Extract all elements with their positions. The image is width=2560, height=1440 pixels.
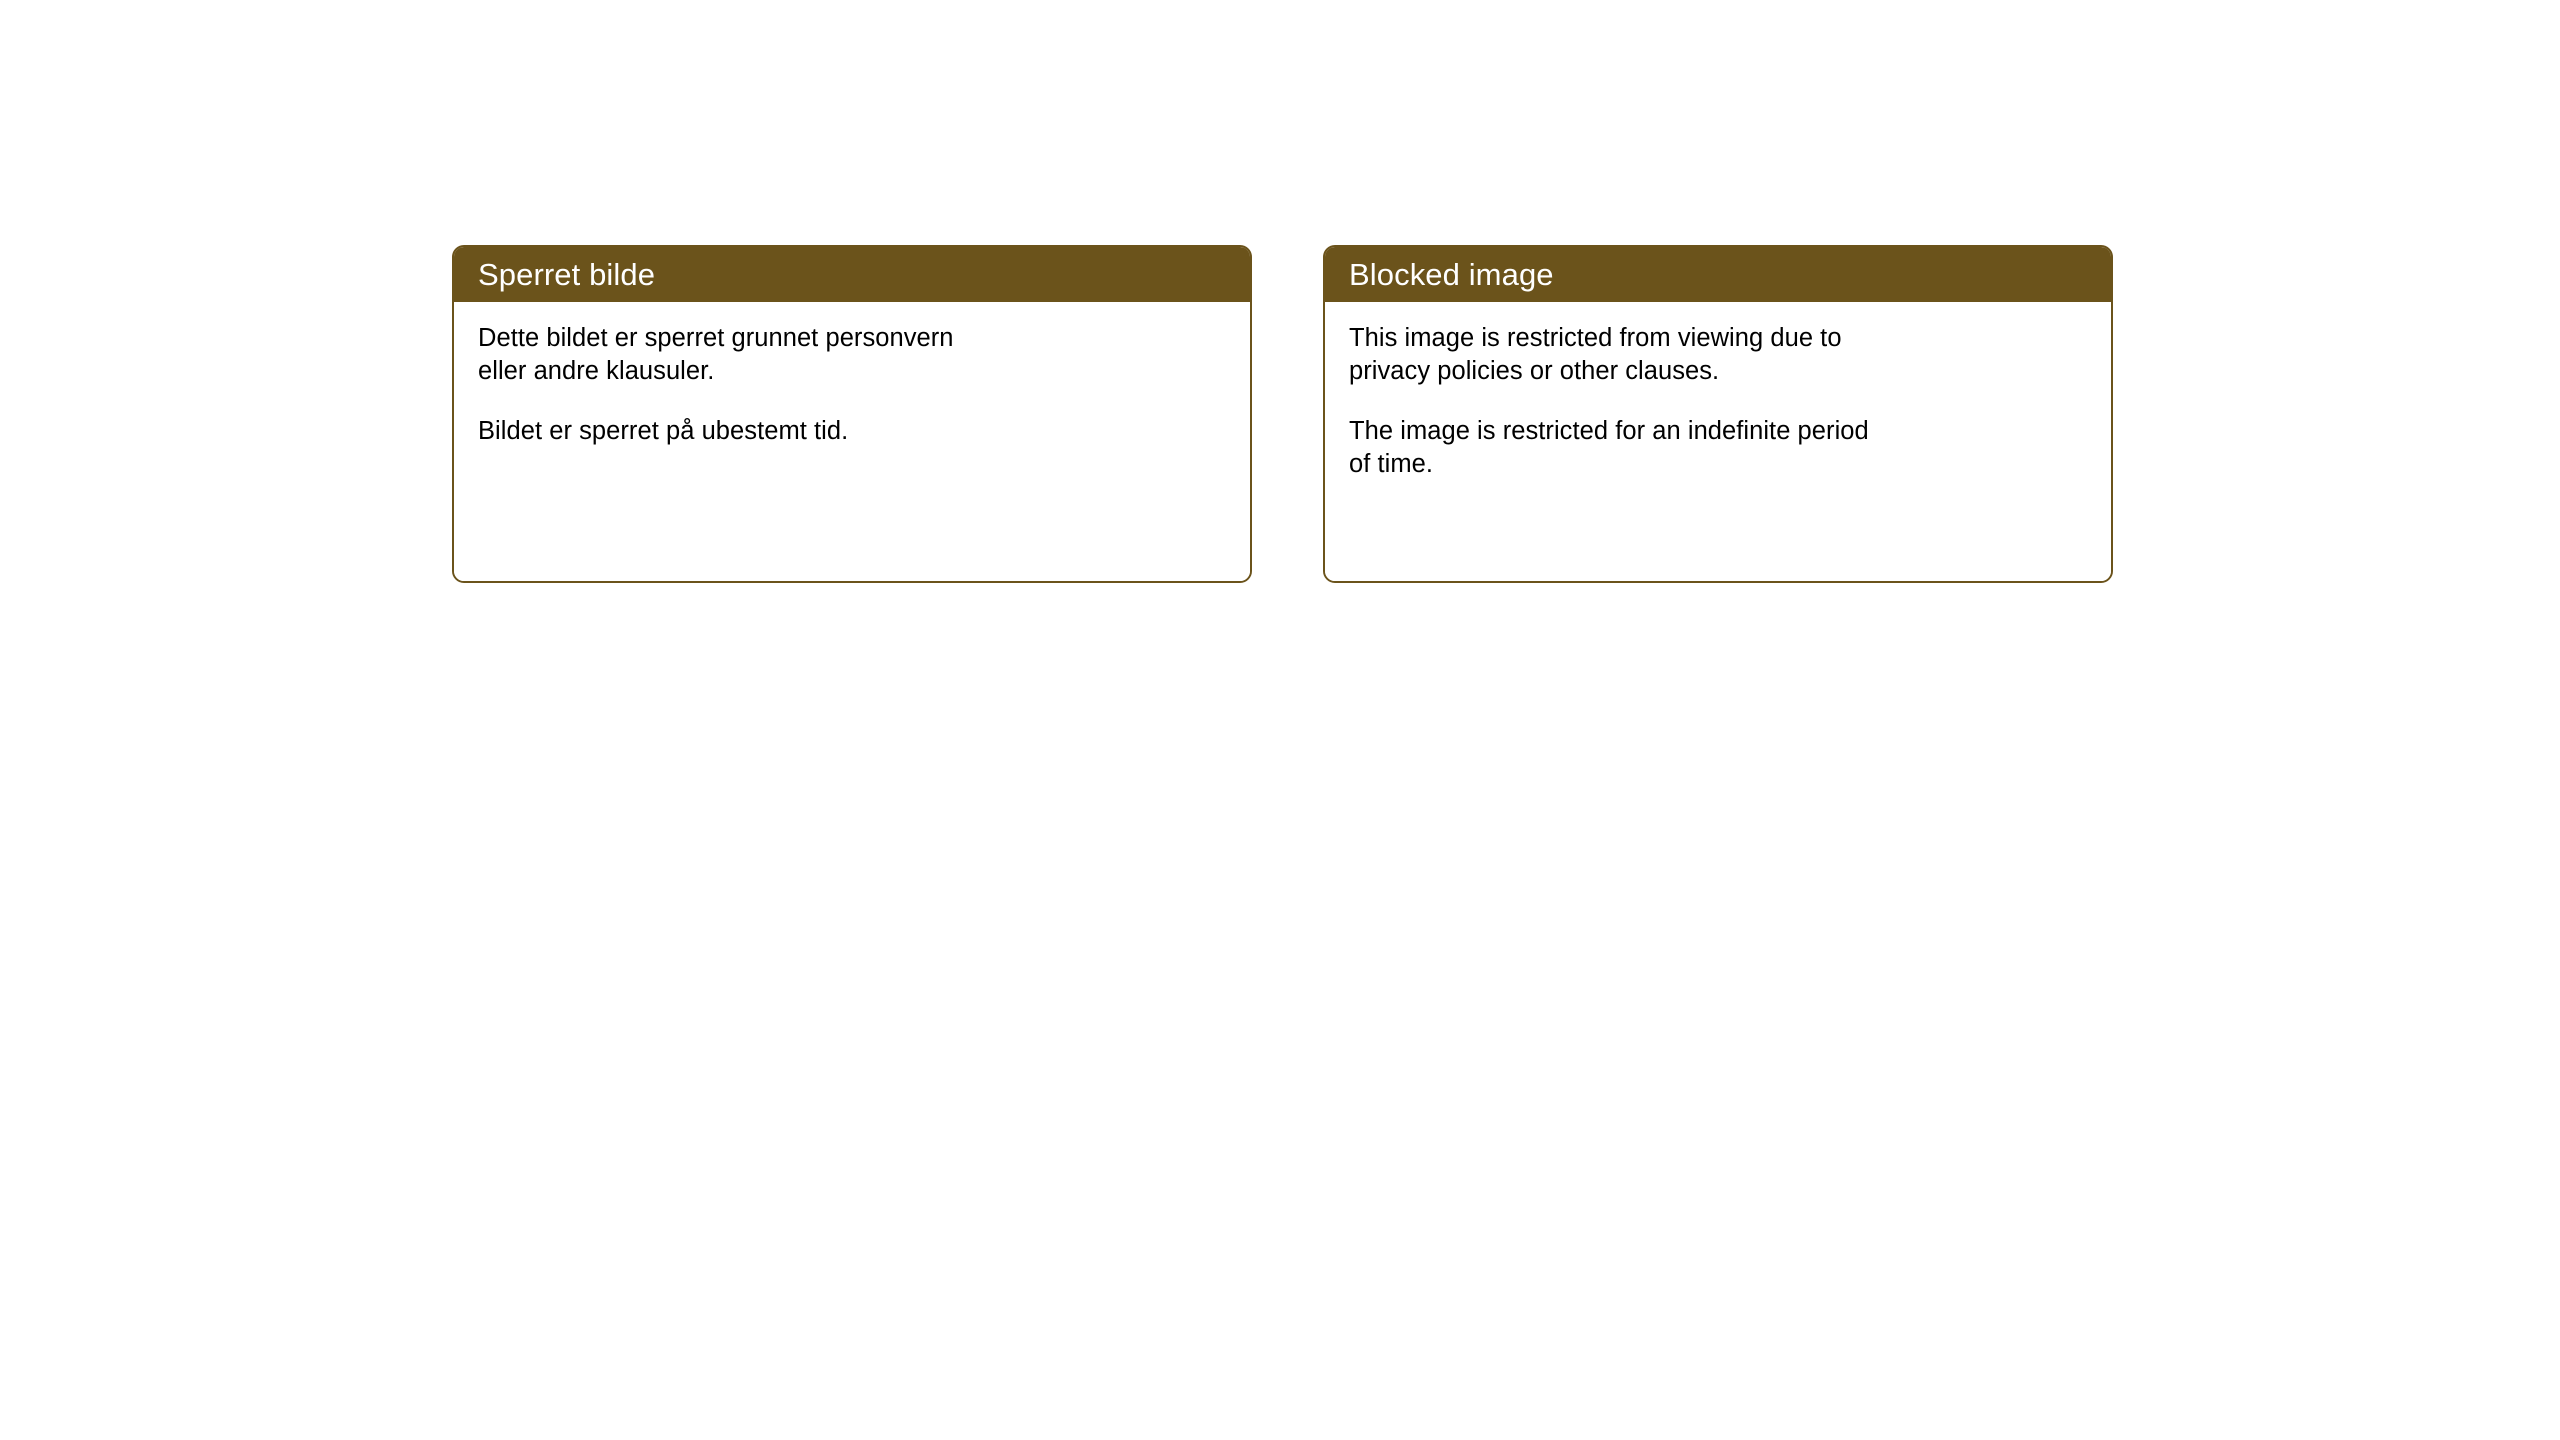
blocked-image-notice-card-en: Blocked image This image is restricted f… bbox=[1323, 245, 2113, 583]
notice-body-no: Dette bildet er sperret grunnet personve… bbox=[454, 302, 1250, 581]
notice-line: privacy policies or other clauses. bbox=[1349, 355, 2089, 388]
notice-line: The image is restricted for an indefinit… bbox=[1349, 415, 2089, 448]
blocked-image-notice-card-no: Sperret bilde Dette bildet er sperret gr… bbox=[452, 245, 1252, 583]
notice-title-en: Blocked image bbox=[1349, 259, 1554, 290]
notice-line: Dette bildet er sperret grunnet personve… bbox=[478, 322, 1228, 355]
notice-line: Bildet er sperret på ubestemt tid. bbox=[478, 415, 1228, 448]
notice-paragraph-en-1: This image is restricted from viewing du… bbox=[1349, 322, 2089, 388]
notice-paragraph-no-2: Bildet er sperret på ubestemt tid. bbox=[478, 415, 1228, 448]
notice-body-en: This image is restricted from viewing du… bbox=[1325, 302, 2111, 581]
notice-line: of time. bbox=[1349, 448, 2089, 481]
notice-line: eller andre klausuler. bbox=[478, 355, 1228, 388]
notice-header-no: Sperret bilde bbox=[454, 247, 1250, 302]
notice-paragraph-no-1: Dette bildet er sperret grunnet personve… bbox=[478, 322, 1228, 388]
notice-header-en: Blocked image bbox=[1325, 247, 2111, 302]
notice-line: This image is restricted from viewing du… bbox=[1349, 322, 2089, 355]
notice-title-no: Sperret bilde bbox=[478, 259, 655, 290]
notice-paragraph-en-2: The image is restricted for an indefinit… bbox=[1349, 415, 2089, 481]
